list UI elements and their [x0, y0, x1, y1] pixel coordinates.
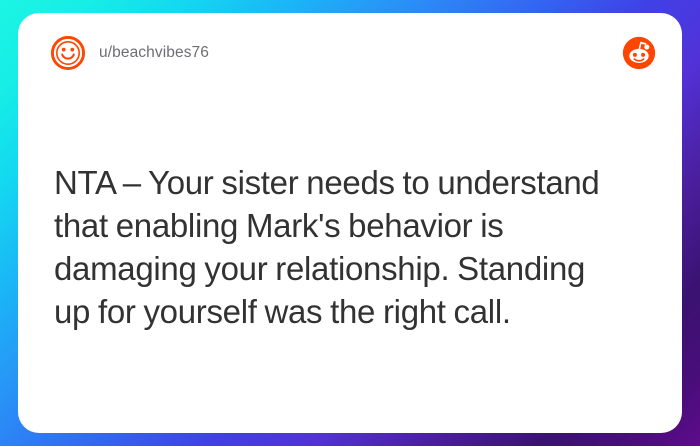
screenshot-canvas: u/beachvibes76 NTA – Your sister needs t…	[0, 0, 700, 446]
comment-card: u/beachvibes76 NTA – Your sister needs t…	[18, 13, 682, 433]
comment-body: NTA – Your sister needs to understand th…	[54, 161, 668, 333]
comment-header: u/beachvibes76	[50, 35, 209, 71]
comment-body-line: NTA – Your sister needs to understand	[54, 161, 668, 204]
smiley-face-avatar-icon[interactable]	[50, 35, 86, 71]
reddit-snoo-logo-icon[interactable]	[622, 36, 656, 70]
comment-body-line: up for yourself was the right call.	[54, 290, 668, 333]
comment-body-line: damaging your relationship. Standing	[54, 247, 668, 290]
comment-body-line: that enabling Mark's behavior is	[54, 204, 668, 247]
username-label[interactable]: u/beachvibes76	[99, 44, 209, 62]
